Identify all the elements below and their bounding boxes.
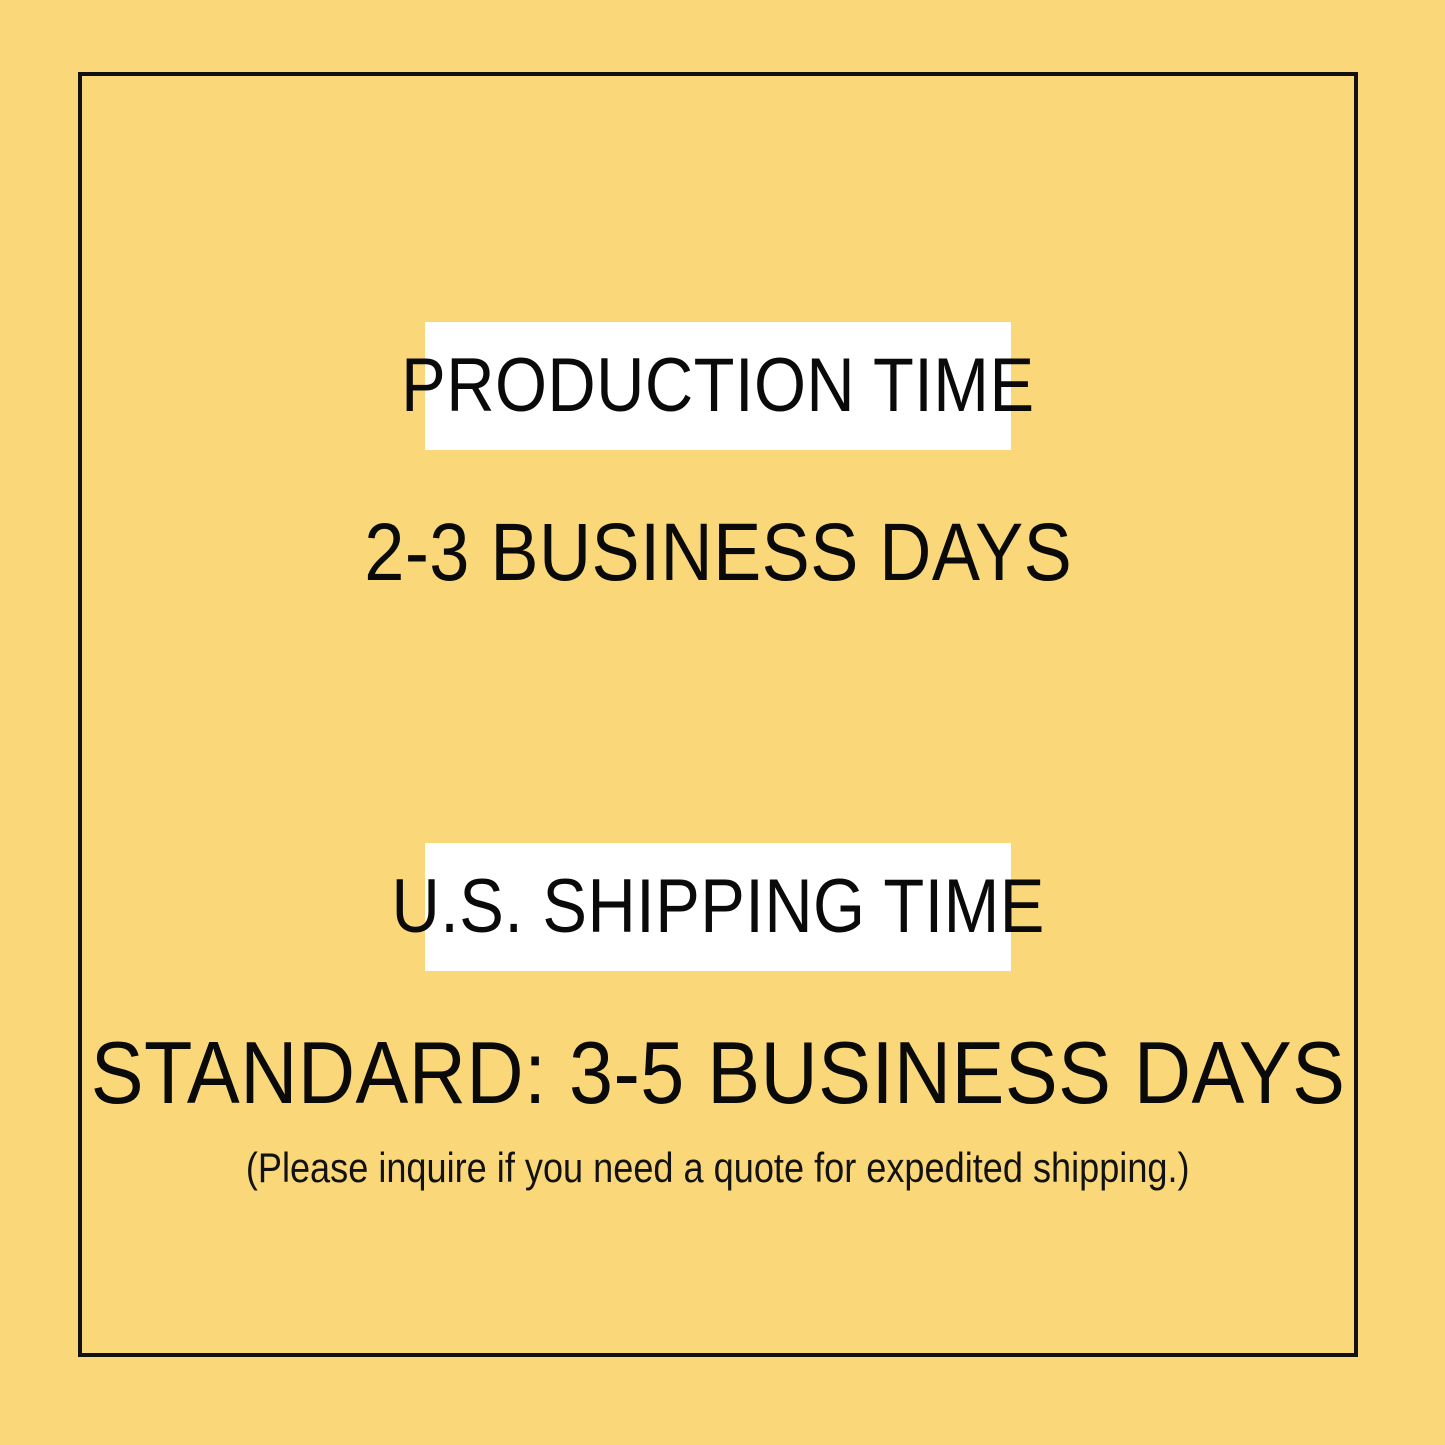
card-content: PRODUCTION TIME 2-3 BUSINESS DAYS U.S. S… [82, 76, 1354, 1353]
shipping-time-value: STANDARD: 3-5 BUSINESS DAYS [91, 1029, 1346, 1117]
production-time-value: 2-3 BUSINESS DAYS [364, 512, 1072, 594]
expedited-shipping-note: (Please inquire if you need a quote for … [246, 1147, 1190, 1189]
shipping-time-heading: U.S. SHIPPING TIME [391, 869, 1044, 945]
shipping-time-section: U.S. SHIPPING TIME STANDARD: 3-5 BUSINES… [82, 843, 1354, 1189]
production-time-section: PRODUCTION TIME 2-3 BUSINESS DAYS [82, 322, 1354, 594]
production-time-heading-plate: PRODUCTION TIME [425, 322, 1011, 450]
shipping-time-heading-plate: U.S. SHIPPING TIME [425, 843, 1011, 971]
shipping-info-card: PRODUCTION TIME 2-3 BUSINESS DAYS U.S. S… [0, 0, 1445, 1445]
production-time-heading: PRODUCTION TIME [401, 348, 1034, 424]
